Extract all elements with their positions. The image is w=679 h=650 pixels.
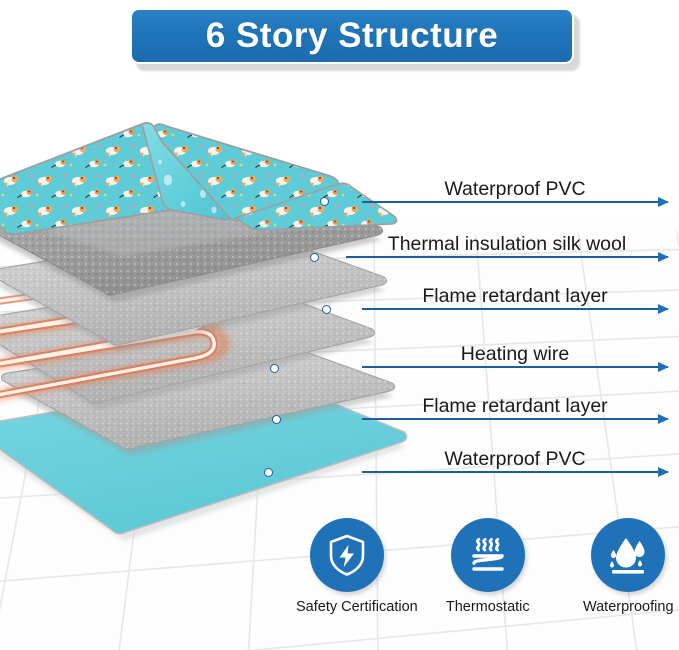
- callout-line: [362, 366, 668, 368]
- page-title: 6 Story Structure: [206, 16, 498, 56]
- callout-layer-flame-upper: Flame retardant layer: [362, 270, 668, 310]
- callout-label: Waterproof PVC: [362, 179, 668, 199]
- callout-label: Heating wire: [362, 344, 668, 364]
- callout-layer-flame-lower: Flame retardant layer: [362, 380, 668, 420]
- callout-anchor-dot: [320, 197, 329, 206]
- callout-layer-bottom-pvc: Waterproof PVC: [362, 433, 668, 473]
- callout-arrowhead-icon: [658, 362, 669, 372]
- callout-line: [362, 201, 668, 203]
- callout-line: [362, 471, 668, 473]
- callout-arrowhead-icon: [658, 414, 669, 424]
- callout-anchor-dot: [322, 305, 331, 314]
- callout-layer-heating-wire: Heating wire: [362, 328, 668, 368]
- callout-arrowhead-icon: [658, 252, 669, 262]
- callout-label: Flame retardant layer: [362, 286, 668, 306]
- callout-anchor-dot: [264, 468, 273, 477]
- feature-waterproofing: Waterproofing: [578, 518, 679, 628]
- heat-waves-icon: [451, 518, 525, 592]
- feature-safety-certification: Safety Certification: [296, 518, 398, 628]
- callout-arrowhead-icon: [658, 467, 669, 477]
- callout-arrowhead-icon: [658, 304, 669, 314]
- callout-arrowhead-icon: [658, 197, 669, 207]
- callout-layer-silk-wool: Thermal insulation silk wool: [346, 218, 668, 258]
- feature-label: Safety Certification: [296, 599, 398, 615]
- callout-anchor-dot: [310, 253, 319, 262]
- feature-badges: Safety Certification Thermostatic: [296, 518, 679, 628]
- callout-layer-top-pvc: Waterproof PVC: [362, 163, 668, 203]
- callout-anchor-dot: [270, 364, 279, 373]
- callout-line: [362, 418, 668, 420]
- water-drop-icon: [591, 518, 665, 592]
- title-banner-body: 6 Story Structure: [130, 8, 574, 64]
- callout-label: Flame retardant layer: [362, 396, 668, 416]
- exploded-layer-stack: [0, 80, 440, 550]
- callout-anchor-dot: [272, 415, 281, 424]
- feature-label: Waterproofing: [578, 599, 679, 615]
- callout-label: Thermal insulation silk wool: [346, 234, 668, 254]
- callout-line: [346, 256, 668, 258]
- shield-bolt-icon: [310, 518, 384, 592]
- feature-label: Thermostatic: [437, 599, 539, 615]
- feature-thermostatic: Thermostatic: [437, 518, 539, 628]
- callout-label: Waterproof PVC: [362, 449, 668, 469]
- callout-line: [362, 308, 668, 310]
- title-banner: 6 Story Structure: [130, 8, 580, 70]
